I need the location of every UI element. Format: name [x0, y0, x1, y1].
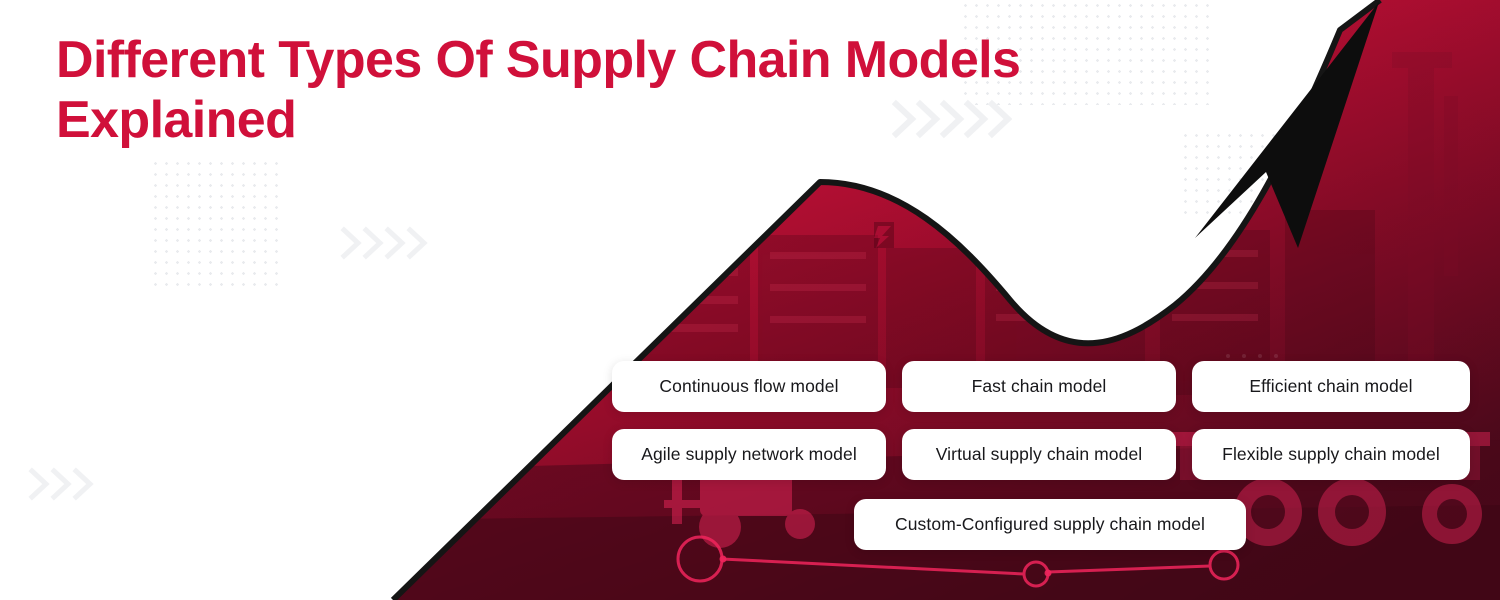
model-pill-flexible-supply-chain[interactable]: Flexible supply chain model: [1192, 429, 1470, 480]
model-pill-virtual-supply-chain[interactable]: Virtual supply chain model: [902, 429, 1176, 480]
model-pill-efficient-chain[interactable]: Efficient chain model: [1192, 361, 1470, 412]
supply-chain-model-list: Continuous flow model Fast chain model E…: [0, 0, 1500, 600]
model-pill-continuous-flow[interactable]: Continuous flow model: [612, 361, 886, 412]
model-pill-fast-chain[interactable]: Fast chain model: [902, 361, 1176, 412]
model-pill-agile-supply-network[interactable]: Agile supply network model: [612, 429, 886, 480]
banner-root: Different Types Of Supply Chain Models E…: [0, 0, 1500, 600]
model-pill-custom-configured-supply-chain[interactable]: Custom-Configured supply chain model: [854, 499, 1246, 550]
